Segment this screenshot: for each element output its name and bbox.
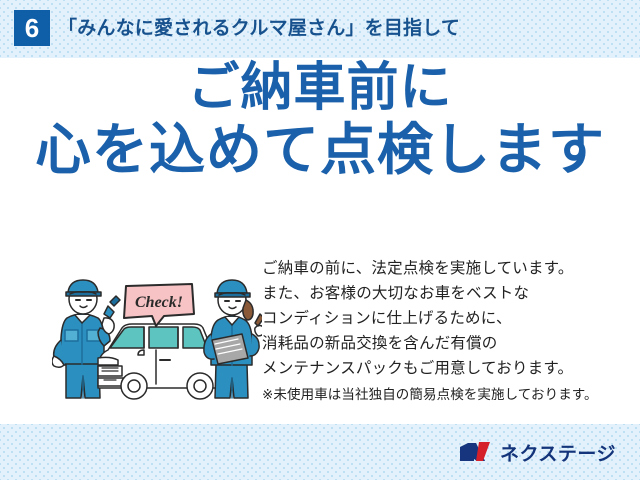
section-number-badge: 6 (14, 10, 50, 46)
body-copy-line: コンディションに仕上げるために、 (262, 306, 622, 331)
minivan-figure (98, 324, 220, 399)
hero-heading-line-1: ご納車前に (0, 62, 640, 115)
body-copy-line: ご納車の前に、法定点検を実施しています。 (262, 256, 622, 281)
footer-band: ネクステージ (0, 424, 640, 480)
body-copy-line: メンテナンスパックもご用意しております。 (262, 356, 622, 381)
mechanics-illustration-svg: Check! (52, 266, 262, 402)
body-copy-line: 消耗品の新品交換を含んだ有償の (262, 331, 622, 356)
hero-heading: ご納車前に 心を込めて点検します (0, 62, 640, 178)
promo-banner: 6 「みんなに愛されるクルマ屋さん」を目指して ご納車前に 心を込めて点検します (0, 0, 640, 480)
hero-heading-line-2: 心を込めて点検します (0, 121, 640, 178)
mechanics-illustration: Check! (52, 266, 262, 402)
header-band: 6 「みんなに愛されるクルマ屋さん」を目指して (0, 0, 640, 58)
body-copy-footnote: ※未使用車は当社独自の簡易点検を実施しております。 (262, 384, 622, 406)
header-title: 「みんなに愛されるクルマ屋さん」を目指して (58, 13, 460, 40)
body-copy: ご納車の前に、法定点検を実施しています。 また、お客様の大切なお車をベストな コ… (262, 256, 622, 405)
body-copy-line: また、お客様の大切なお車をベストな (262, 281, 622, 306)
nextage-n-mark-icon (459, 440, 493, 464)
brand-logo: ネクステージ (459, 438, 616, 466)
check-bubble-label: Check! (135, 294, 183, 311)
brand-name: ネクステージ (500, 439, 616, 466)
